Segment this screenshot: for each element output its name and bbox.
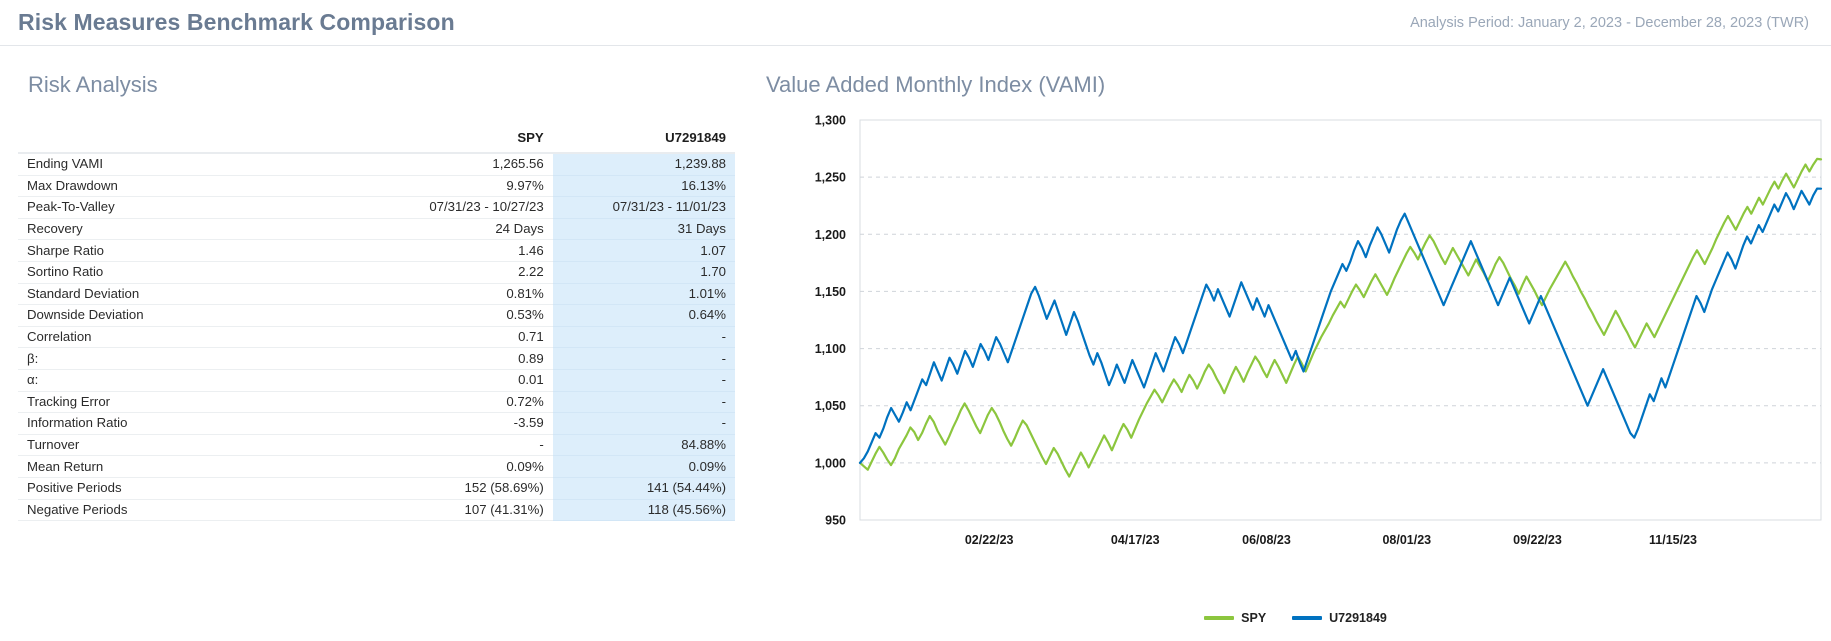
cell-metric-name: Recovery — [18, 218, 370, 240]
x-axis-tick-label: 11/15/23 — [1649, 533, 1697, 547]
table-row: Information Ratio-3.59- — [18, 413, 735, 435]
table-row: Tracking Error0.72%- — [18, 391, 735, 413]
cell-spy-value: 0.71 — [370, 326, 552, 348]
table-row: Peak-To-Valley07/31/23 - 10/27/2307/31/2… — [18, 197, 735, 219]
vami-chart-panel: Value Added Monthly Index (VAMI) 9501,00… — [760, 46, 1831, 641]
cell-spy-value: 1.46 — [370, 240, 552, 262]
analysis-period-label: Analysis Period: January 2, 2023 - Decem… — [1410, 15, 1813, 31]
table-row: Correlation0.71- — [18, 326, 735, 348]
cell-metric-name: Downside Deviation — [18, 305, 370, 327]
chart-legend: SPY U7291849 — [760, 611, 1831, 625]
legend-label-account: U7291849 — [1329, 611, 1387, 625]
cell-metric-name: Correlation — [18, 326, 370, 348]
cell-metric-name: Max Drawdown — [18, 175, 370, 197]
table-body: Ending VAMI1,265.561,239.88Max Drawdown9… — [18, 153, 735, 521]
cell-metric-name: α: — [18, 369, 370, 391]
cell-metric-name: β: — [18, 348, 370, 370]
cell-metric-name: Tracking Error — [18, 391, 370, 413]
table-row: α:0.01- — [18, 369, 735, 391]
column-header-spy: SPY — [370, 130, 552, 153]
cell-account-value: - — [553, 326, 735, 348]
cell-account-value: 16.13% — [553, 175, 735, 197]
table-row: Turnover-84.88% — [18, 434, 735, 456]
chart-plot-area — [860, 120, 1821, 520]
risk-analysis-panel: Risk Analysis SPY U7291849 Ending VAMI1,… — [0, 46, 760, 641]
table-row: Standard Deviation0.81%1.01% — [18, 283, 735, 305]
cell-metric-name: Sharpe Ratio — [18, 240, 370, 262]
table-row: Negative Periods107 (41.31%)118 (45.56%) — [18, 499, 735, 521]
cell-metric-name: Information Ratio — [18, 413, 370, 435]
cell-account-value: - — [553, 369, 735, 391]
y-axis-tick-label: 1,150 — [815, 285, 846, 299]
y-axis-tick-label: 950 — [825, 514, 846, 528]
cell-account-value: 118 (45.56%) — [553, 499, 735, 521]
x-axis-tick-label: 06/08/23 — [1242, 533, 1291, 547]
y-axis-tick-label: 1,250 — [815, 171, 846, 185]
table-row: Sortino Ratio2.221.70 — [18, 261, 735, 283]
x-axis-tick-label: 09/22/23 — [1513, 533, 1562, 547]
y-axis-tick-label: 1,100 — [815, 342, 846, 356]
cell-spy-value: - — [370, 434, 552, 456]
cell-spy-value: -3.59 — [370, 413, 552, 435]
table-row: Ending VAMI1,265.561,239.88 — [18, 153, 735, 175]
legend-label-spy: SPY — [1241, 611, 1266, 625]
table-header-row: SPY U7291849 — [18, 130, 735, 153]
cell-metric-name: Negative Periods — [18, 499, 370, 521]
legend-swatch-spy — [1204, 616, 1234, 620]
cell-metric-name: Sortino Ratio — [18, 261, 370, 283]
x-axis-tick-label: 02/22/23 — [965, 533, 1014, 547]
table-row: Recovery24 Days31 Days — [18, 218, 735, 240]
y-axis-tick-label: 1,300 — [815, 114, 846, 128]
legend-swatch-account — [1292, 616, 1322, 620]
cell-account-value: 07/31/23 - 11/01/23 — [553, 197, 735, 219]
column-header-metric — [18, 130, 370, 153]
cell-spy-value: 0.81% — [370, 283, 552, 305]
column-header-account: U7291849 — [553, 130, 735, 153]
report-page: Risk Measures Benchmark Comparison Analy… — [0, 0, 1831, 641]
y-axis-tick-label: 1,050 — [815, 399, 846, 413]
cell-metric-name: Standard Deviation — [18, 283, 370, 305]
cell-metric-name: Peak-To-Valley — [18, 197, 370, 219]
vami-line-chart: 9501,0001,0501,1001,1501,2001,2501,30002… — [760, 112, 1831, 572]
table-row: Downside Deviation0.53%0.64% — [18, 305, 735, 327]
table-header: SPY U7291849 — [18, 130, 735, 153]
legend-item-account[interactable]: U7291849 — [1292, 611, 1387, 625]
cell-spy-value: 0.01 — [370, 369, 552, 391]
x-axis-tick-label: 04/17/23 — [1111, 533, 1160, 547]
table-row: Positive Periods152 (58.69%)141 (54.44%) — [18, 477, 735, 499]
chart-title: Value Added Monthly Index (VAMI) — [766, 72, 1831, 98]
table-row: Mean Return0.09%0.09% — [18, 456, 735, 478]
cell-spy-value: 9.97% — [370, 175, 552, 197]
cell-metric-name: Ending VAMI — [18, 153, 370, 175]
cell-spy-value: 152 (58.69%) — [370, 477, 552, 499]
y-axis-tick-label: 1,000 — [815, 456, 846, 470]
cell-account-value: 1.70 — [553, 261, 735, 283]
cell-account-value: 0.09% — [553, 456, 735, 478]
legend-item-spy[interactable]: SPY — [1204, 611, 1266, 625]
x-axis-tick-label: 08/01/23 — [1382, 533, 1431, 547]
cell-account-value: 1.01% — [553, 283, 735, 305]
table-row: β:0.89- — [18, 348, 735, 370]
risk-measures-table: SPY U7291849 Ending VAMI1,265.561,239.88… — [18, 130, 735, 521]
table-row: Max Drawdown9.97%16.13% — [18, 175, 735, 197]
cell-account-value: 1,239.88 — [553, 153, 735, 175]
page-header: Risk Measures Benchmark Comparison Analy… — [0, 0, 1831, 46]
cell-spy-value: 0.72% — [370, 391, 552, 413]
table-row: Sharpe Ratio1.461.07 — [18, 240, 735, 262]
cell-account-value: - — [553, 413, 735, 435]
cell-metric-name: Turnover — [18, 434, 370, 456]
cell-account-value: 141 (54.44%) — [553, 477, 735, 499]
cell-spy-value: 07/31/23 - 10/27/23 — [370, 197, 552, 219]
page-title: Risk Measures Benchmark Comparison — [18, 9, 455, 36]
cell-account-value: - — [553, 391, 735, 413]
main-content: Risk Analysis SPY U7291849 Ending VAMI1,… — [0, 46, 1831, 641]
cell-spy-value: 24 Days — [370, 218, 552, 240]
risk-analysis-heading: Risk Analysis — [28, 72, 760, 98]
cell-spy-value: 2.22 — [370, 261, 552, 283]
cell-spy-value: 0.53% — [370, 305, 552, 327]
cell-account-value: 1.07 — [553, 240, 735, 262]
cell-spy-value: 1,265.56 — [370, 153, 552, 175]
cell-account-value: - — [553, 348, 735, 370]
cell-spy-value: 0.09% — [370, 456, 552, 478]
cell-spy-value: 107 (41.31%) — [370, 499, 552, 521]
chart-plot-wrapper: 9501,0001,0501,1001,1501,2001,2501,30002… — [760, 112, 1831, 572]
cell-account-value: 84.88% — [553, 434, 735, 456]
y-axis-tick-label: 1,200 — [815, 228, 846, 242]
cell-account-value: 0.64% — [553, 305, 735, 327]
cell-metric-name: Mean Return — [18, 456, 370, 478]
cell-account-value: 31 Days — [553, 218, 735, 240]
cell-metric-name: Positive Periods — [18, 477, 370, 499]
cell-spy-value: 0.89 — [370, 348, 552, 370]
